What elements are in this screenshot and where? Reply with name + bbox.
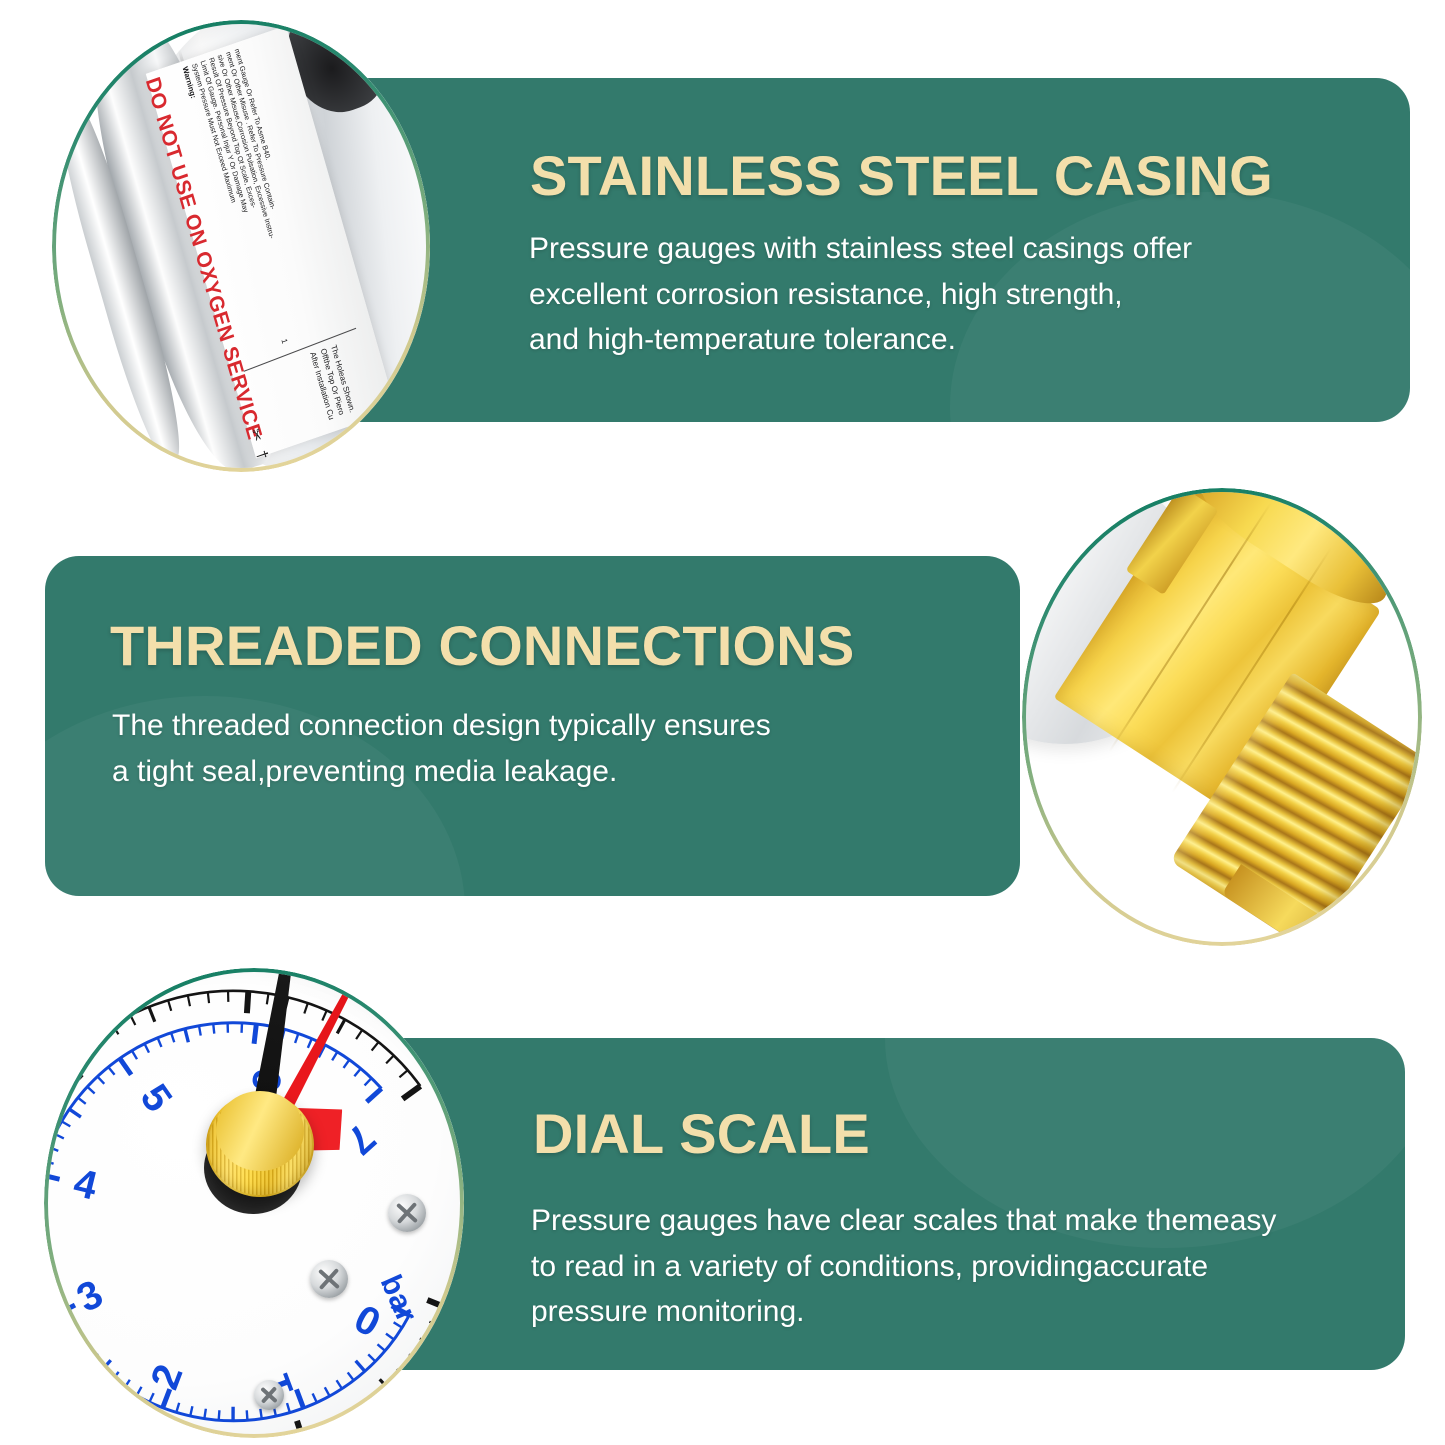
photo-inner: DO NOT USE ON OXYGEN SERVICE Warning: Sy… xyxy=(56,24,426,468)
body-line: Pressure gauges with stainless steel cas… xyxy=(529,226,1192,272)
body-line: a tight seal,preventing media leakage. xyxy=(112,749,771,795)
dial-scale-number: 3 xyxy=(70,1271,110,1320)
body-line: The threaded connection design typically… xyxy=(112,703,771,749)
feature-image-dial-scale: 01234567 bar xyxy=(44,968,464,1438)
body-line: Pressure gauges have clear scales that m… xyxy=(531,1198,1276,1244)
photo-inner: 01234567 bar xyxy=(48,972,460,1434)
infographic-canvas: STAINLESS STEEL CASING Pressure gauges w… xyxy=(0,0,1445,1445)
body-line: and high-temperature tolerance. xyxy=(529,317,1192,363)
body-line: to read in a variety of conditions, prov… xyxy=(531,1244,1276,1290)
adjustment-knob-top[interactable] xyxy=(216,1091,304,1171)
feature-title-dial-scale: DIAL SCALE xyxy=(533,1106,870,1162)
body-line: pressure monitoring. xyxy=(531,1289,1276,1335)
feature-image-threaded-connections xyxy=(1022,488,1422,946)
warning-number-mark: 1 xyxy=(277,337,288,345)
brass-fitting-illustration xyxy=(1026,492,1418,942)
bezel-screw xyxy=(310,1260,348,1298)
feature-body-stainless-steel-casing: Pressure gauges with stainless steel cas… xyxy=(529,226,1192,363)
feature-image-stainless-steel-casing: DO NOT USE ON OXYGEN SERVICE Warning: Sy… xyxy=(52,20,430,472)
dial-scale-number: 5 xyxy=(131,1076,180,1119)
dial-scale-number: 2 xyxy=(142,1358,191,1394)
dial-gauge-illustration: 01234567 bar xyxy=(48,972,460,1434)
dial-scale-number: 4 xyxy=(69,1160,101,1208)
bezel-screw xyxy=(388,1194,426,1232)
body-line: excellent corrosion resistance, high str… xyxy=(529,272,1192,318)
dial-scale-number: 7 xyxy=(338,1115,384,1163)
feature-title-stainless-steel-casing: STAINLESS STEEL CASING xyxy=(530,148,1273,204)
feature-title-threaded-connections: THREADED CONNECTIONS xyxy=(110,618,854,674)
feature-body-dial-scale: Pressure gauges have clear scales that m… xyxy=(531,1198,1276,1335)
bezel-screw xyxy=(254,1380,284,1410)
photo-inner xyxy=(1026,492,1418,942)
gauge-casing-illustration: DO NOT USE ON OXYGEN SERVICE Warning: Sy… xyxy=(56,24,426,468)
feature-body-threaded-connections: The threaded connection design typically… xyxy=(112,703,771,794)
